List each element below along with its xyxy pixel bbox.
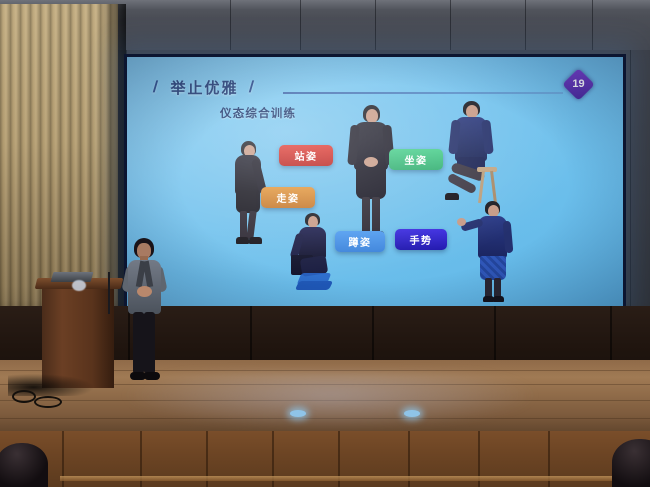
standing-figure [345, 105, 397, 247]
label-sitting-posture: 坐姿 [389, 149, 443, 170]
label-text: 蹲姿 [349, 234, 372, 249]
gesturing-figure [467, 201, 523, 305]
presenter-trouser-right [144, 312, 155, 374]
label-standing-posture: 站姿 [279, 145, 333, 166]
squatting-figure [287, 213, 343, 303]
audience-head-left [0, 443, 48, 487]
podium-reading-light [72, 280, 86, 291]
microphone-stand [108, 272, 110, 314]
presenter-shoe-right [144, 372, 160, 380]
title-slash-right: / [249, 79, 257, 97]
label-text: 走姿 [277, 190, 300, 205]
cable-loop-a [12, 390, 36, 403]
label-hand-gesture: 手势 [395, 229, 447, 250]
label-text: 手势 [410, 232, 433, 247]
label-text: 坐姿 [405, 152, 428, 167]
label-squatting-posture: 蹲姿 [335, 231, 385, 252]
presenter-hands [137, 286, 152, 297]
projection-screen-frame: / 举止优雅 / 19 仪态综合训练 [124, 54, 626, 312]
slide-subtitle: 仪态综合训练 [220, 105, 296, 121]
presenter [122, 238, 168, 390]
cable-loop-b [34, 396, 62, 408]
slide-number-text: 19 [567, 73, 590, 96]
page-title: 举止优雅 [170, 77, 238, 98]
label-text: 站姿 [295, 148, 318, 163]
floor-inset-light-right [404, 410, 420, 417]
floor-light-reflection [120, 372, 540, 430]
lectern-podium [42, 283, 114, 388]
slide-number-badge: 19 [562, 68, 595, 101]
floor-inset-light-left [290, 410, 306, 417]
title-slash-left: / [152, 79, 160, 97]
podium-laptop [51, 272, 94, 282]
presenter-trouser-left [133, 312, 144, 374]
projection-screen: / 举止优雅 / 19 仪态综合训练 [127, 57, 623, 308]
audience-head-right [612, 439, 650, 487]
title-underline-rule [283, 92, 563, 94]
front-rail-trim [60, 476, 650, 481]
slide-title-row: / 举止优雅 / [153, 77, 256, 98]
lecture-hall-scene: / 举止优雅 / 19 仪态综合训练 [0, 0, 650, 487]
label-walking-posture: 走姿 [261, 187, 315, 208]
